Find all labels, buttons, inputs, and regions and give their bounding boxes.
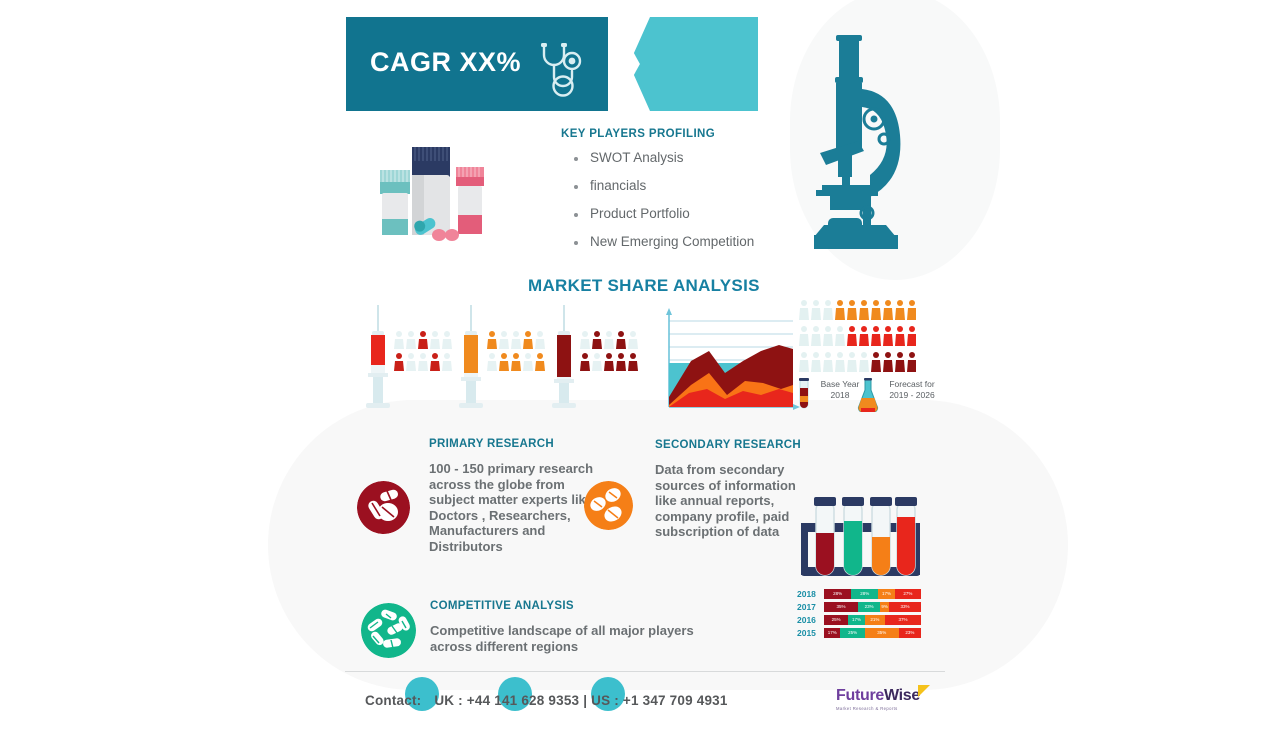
flask-icon: [857, 378, 879, 412]
footer-divider: [345, 671, 945, 672]
key-players-list: SWOT Analysis financials Product Portfol…: [572, 150, 754, 262]
syringe-icon: [453, 305, 489, 413]
stethoscope-icon: [531, 39, 593, 101]
contact-value: UK : +44 141 628 9353 | US : +1 347 709 …: [434, 693, 727, 708]
competitive-analysis-body: Competitive landscape of all major playe…: [430, 623, 710, 654]
table-row: 2018 28% 28% 17% 27%: [797, 589, 925, 600]
list-item: SWOT Analysis: [572, 150, 754, 165]
infographic-canvas: CAGR XX%: [0, 0, 1280, 731]
bar-segment: 23%: [899, 628, 921, 638]
year-label: 2017: [797, 602, 821, 613]
futurewise-logo[interactable]: FutureWise Market Research & Reports: [836, 687, 932, 715]
stacked-bar: 25% 17% 21% 37%: [824, 615, 921, 625]
syringe-icon: [360, 305, 396, 413]
bar-segment: 25%: [824, 615, 848, 625]
primary-research-title: PRIMARY RESEARCH: [429, 438, 554, 450]
people-pictogram: [487, 329, 545, 373]
flag-icon: [918, 685, 930, 697]
bar-segment: 25%: [840, 628, 864, 638]
stacked-bar: 17% 25% 35% 23%: [824, 628, 921, 638]
people-pictogram: [580, 329, 638, 373]
table-row: 2015 17% 25% 35% 23%: [797, 628, 925, 639]
legend-forecast: Forecast for 2019 - 2026: [880, 379, 944, 401]
bar-segment: 17%: [824, 628, 840, 638]
contact-info: Contact: UK : +44 141 628 9353 | US : +1…: [365, 693, 728, 708]
bar-segment: 28%: [824, 589, 851, 599]
bar-segment: 9%: [880, 602, 889, 612]
forecast-legend: Base Year 2018 Forecast for 2019 - 2026: [796, 378, 944, 414]
bar-segment: 35%: [865, 628, 899, 638]
forecast-pictogram: [798, 298, 916, 376]
table-row: 2016 25% 17% 21% 37%: [797, 615, 925, 626]
bar-segment: 35%: [824, 602, 858, 612]
market-share-title: MARKET SHARE ANALYSIS: [528, 276, 760, 296]
bar-segment: 17%: [878, 589, 894, 599]
bar-segment: 27%: [895, 589, 921, 599]
logo-wise-text: Wise: [884, 687, 920, 704]
primary-research-body: 100 - 150 primary research across the gl…: [429, 461, 594, 554]
list-item: Product Portfolio: [572, 206, 754, 221]
pills-circle-icon: [357, 481, 410, 534]
syringe-icon: [546, 305, 582, 413]
market-area-chart: [653, 303, 803, 415]
logo-tagline: Market Research & Reports: [836, 706, 932, 711]
competitive-analysis-title: COMPETITIVE ANALYSIS: [430, 600, 574, 612]
pills-circle-icon: [361, 603, 416, 658]
bar-segment: 28%: [851, 589, 878, 599]
bar-segment: 37%: [885, 615, 921, 625]
stacked-bar: 35% 23% 9% 33%: [824, 602, 921, 612]
year-label: 2015: [797, 628, 821, 639]
yearly-share-chart: 2018 28% 28% 17% 27% 2017 35% 23% 9% 33%…: [797, 589, 925, 639]
cagr-label: CAGR XX%: [370, 47, 521, 78]
contact-label: Contact:: [365, 693, 421, 708]
year-label: 2018: [797, 589, 821, 600]
bar-segment: 23%: [858, 602, 880, 612]
test-tube-rack-icon: [797, 493, 925, 581]
cagr-banner: CAGR XX%: [346, 17, 758, 111]
list-item: financials: [572, 178, 754, 193]
logo-future-text: Future: [836, 687, 884, 704]
test-tube-icon: [796, 378, 812, 412]
pills-circle-icon: [584, 481, 633, 530]
key-players-title: KEY PLAYERS PROFILING: [561, 128, 715, 140]
bar-segment: 17%: [848, 615, 864, 625]
list-item: New Emerging Competition: [572, 234, 754, 249]
table-row: 2017 35% 23% 9% 33%: [797, 602, 925, 613]
medicine-bottles-icon: [372, 143, 492, 248]
secondary-research-title: SECONDARY RESEARCH: [655, 439, 801, 451]
secondary-research-body: Data from secondary sources of informati…: [655, 462, 800, 540]
people-pictogram: [394, 329, 452, 373]
year-label: 2016: [797, 615, 821, 626]
microscope-icon: [808, 35, 920, 257]
bar-segment: 21%: [865, 615, 885, 625]
bar-segment: 33%: [889, 602, 921, 612]
stacked-bar: 28% 28% 17% 27%: [824, 589, 921, 599]
